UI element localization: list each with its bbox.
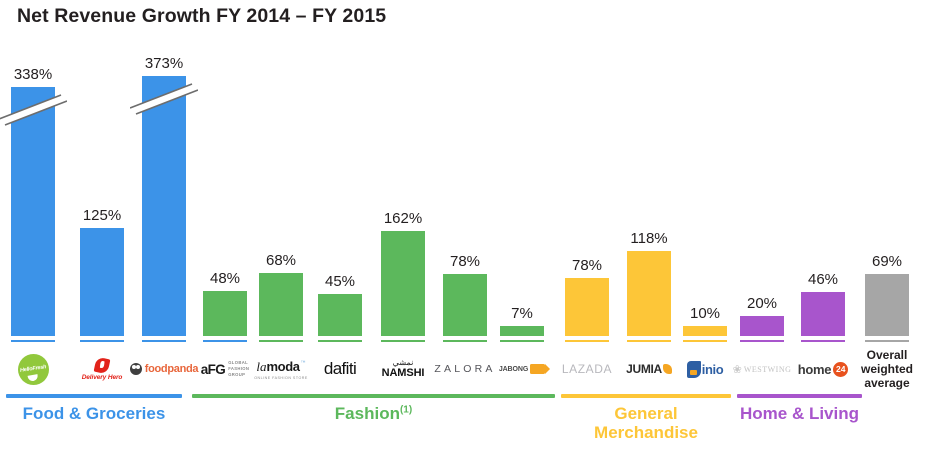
bar[interactable] [259, 273, 303, 336]
bar-value-label: 46% [808, 271, 838, 288]
bar-underline [683, 340, 727, 343]
bar-value-label: 68% [266, 252, 296, 269]
bar-group: 338% [11, 0, 55, 346]
bar-underline [500, 340, 544, 343]
bar[interactable] [318, 294, 362, 336]
bar-group: 45% [318, 0, 362, 346]
bar-group: 46% [801, 0, 845, 346]
category-label: Fashion(1) [192, 404, 555, 423]
bar-underline [627, 340, 671, 343]
category-rule [561, 394, 731, 398]
bar[interactable] [740, 316, 784, 336]
bar[interactable] [203, 291, 247, 336]
jabong-logo: JABONG [499, 364, 545, 374]
bar-value-label: 162% [384, 210, 422, 227]
bar-underline [381, 340, 425, 343]
category-label: Home & Living [737, 404, 862, 423]
bar-underline [203, 340, 247, 343]
bar-group: 125% [80, 0, 124, 346]
bar[interactable] [500, 326, 544, 336]
bar-value-label: 10% [690, 305, 720, 322]
category-rule [192, 394, 555, 398]
category-label: GeneralMerchandise [561, 404, 731, 442]
bar-group: 68% [259, 0, 303, 346]
dafiti-logo: dafiti [324, 359, 356, 379]
bar[interactable] [865, 274, 909, 336]
bar[interactable] [683, 326, 727, 336]
plot-area: 338%125%373%48%68%45%162%78%7%78%118%10%… [0, 0, 927, 346]
category-label: Food & Groceries [6, 404, 182, 423]
bar-value-label: 20% [747, 295, 777, 312]
hellofresh-logo: HelloFresh [18, 354, 49, 385]
bar-value-label: 45% [325, 273, 355, 290]
bar-underline [259, 340, 303, 343]
bar-value-label: 125% [83, 207, 121, 224]
bar[interactable] [627, 251, 671, 336]
home24-logo: home24 [798, 362, 848, 377]
bar-group: 7% [500, 0, 544, 346]
bar-value-label: 7% [511, 305, 533, 322]
bar-group: 118% [627, 0, 671, 346]
logo-axis-row: HelloFreshDelivery HerofoodpandaaFGGLOBA… [0, 348, 927, 390]
footnote-marker: (1) [400, 404, 412, 415]
bar-underline [80, 340, 124, 343]
bar-group: 162% [381, 0, 425, 346]
bar-group: 20% [740, 0, 784, 346]
namshi-logo: نمشيNAMSHI [382, 359, 425, 379]
bar-group: 78% [443, 0, 487, 346]
category-rule [737, 394, 862, 398]
bar-underline [142, 340, 186, 343]
overall-average-label: Overallweightedaverage [844, 348, 927, 390]
bar[interactable] [80, 228, 124, 336]
bar-underline [801, 340, 845, 343]
bar-underline [565, 340, 609, 343]
bar[interactable] [801, 292, 845, 336]
category-rule [6, 394, 182, 398]
bar[interactable] [11, 87, 55, 336]
bar-value-label: 48% [210, 270, 240, 287]
bar[interactable] [381, 231, 425, 336]
bar-group: 48% [203, 0, 247, 346]
bar-underline [443, 340, 487, 343]
bar[interactable] [142, 76, 186, 336]
bar-group: 10% [683, 0, 727, 346]
bar-value-label: 78% [450, 253, 480, 270]
bar[interactable] [443, 274, 487, 336]
bar-value-label: 338% [14, 66, 52, 83]
bar-underline [865, 340, 909, 343]
bar-underline [11, 340, 55, 343]
bar[interactable] [565, 278, 609, 336]
bar-value-label: 78% [572, 257, 602, 274]
bar-value-label: 118% [630, 230, 667, 247]
bar-group: 373% [142, 0, 186, 346]
bar-underline [318, 340, 362, 343]
bar-value-label: 373% [145, 55, 183, 72]
delivery-hero-logo: Delivery Hero [82, 358, 123, 381]
bar-group: 69% [865, 0, 909, 346]
chart-container: Net Revenue Growth FY 2014 – FY 2015 338… [0, 0, 927, 456]
bar-value-label: 69% [872, 253, 902, 270]
bar-underline [740, 340, 784, 343]
bar-group: 78% [565, 0, 609, 346]
logo-cell: Overallweightedaverage [843, 348, 927, 390]
